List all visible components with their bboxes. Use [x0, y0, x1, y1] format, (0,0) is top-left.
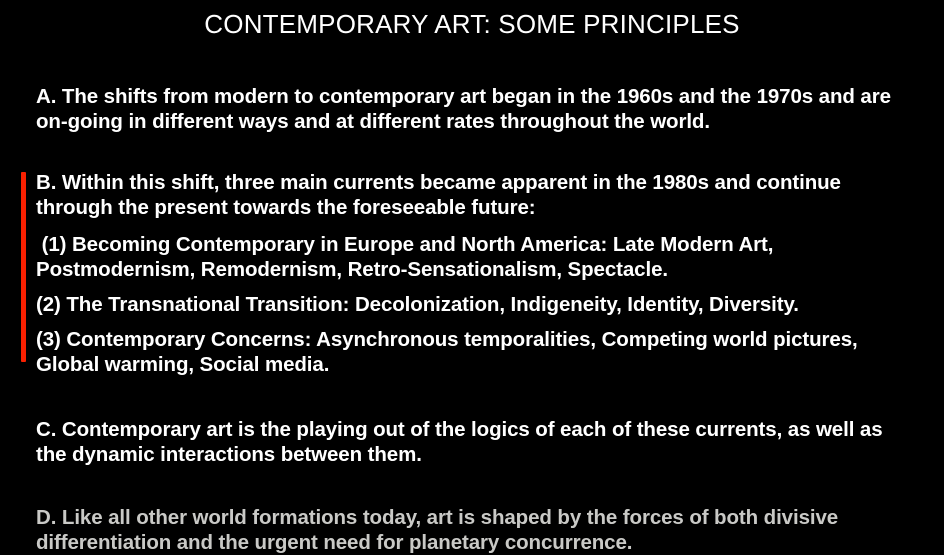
- spacer-item-1-2: [36, 282, 916, 292]
- slide-body: A. The shifts from modern to contemporar…: [36, 84, 916, 555]
- paragraph-c: C. Contemporary art is the playing out o…: [36, 417, 916, 467]
- red-accent-bar: [21, 172, 26, 362]
- current-item-3: (3) Contemporary Concerns: Asynchronous …: [36, 327, 916, 377]
- paragraph-b: B. Within this shift, three main current…: [36, 170, 916, 220]
- spacer-items-c: [36, 377, 916, 417]
- current-item-2: (2) The Transnational Transition: Decolo…: [36, 292, 916, 317]
- spacer-item-2-3: [36, 317, 916, 327]
- paragraph-a: A. The shifts from modern to contemporar…: [36, 84, 916, 134]
- paragraph-d: D. Like all other world formations today…: [36, 505, 916, 555]
- spacer-c-d: [36, 467, 916, 505]
- spacer-a-b: [36, 134, 916, 170]
- presentation-slide: CONTEMPORARY ART: SOME PRINCIPLES A. The…: [0, 0, 944, 551]
- page-title: CONTEMPORARY ART: SOME PRINCIPLES: [0, 8, 944, 40]
- spacer-b-items: [36, 220, 916, 232]
- current-item-1: (1) Becoming Contemporary in Europe and …: [36, 232, 916, 282]
